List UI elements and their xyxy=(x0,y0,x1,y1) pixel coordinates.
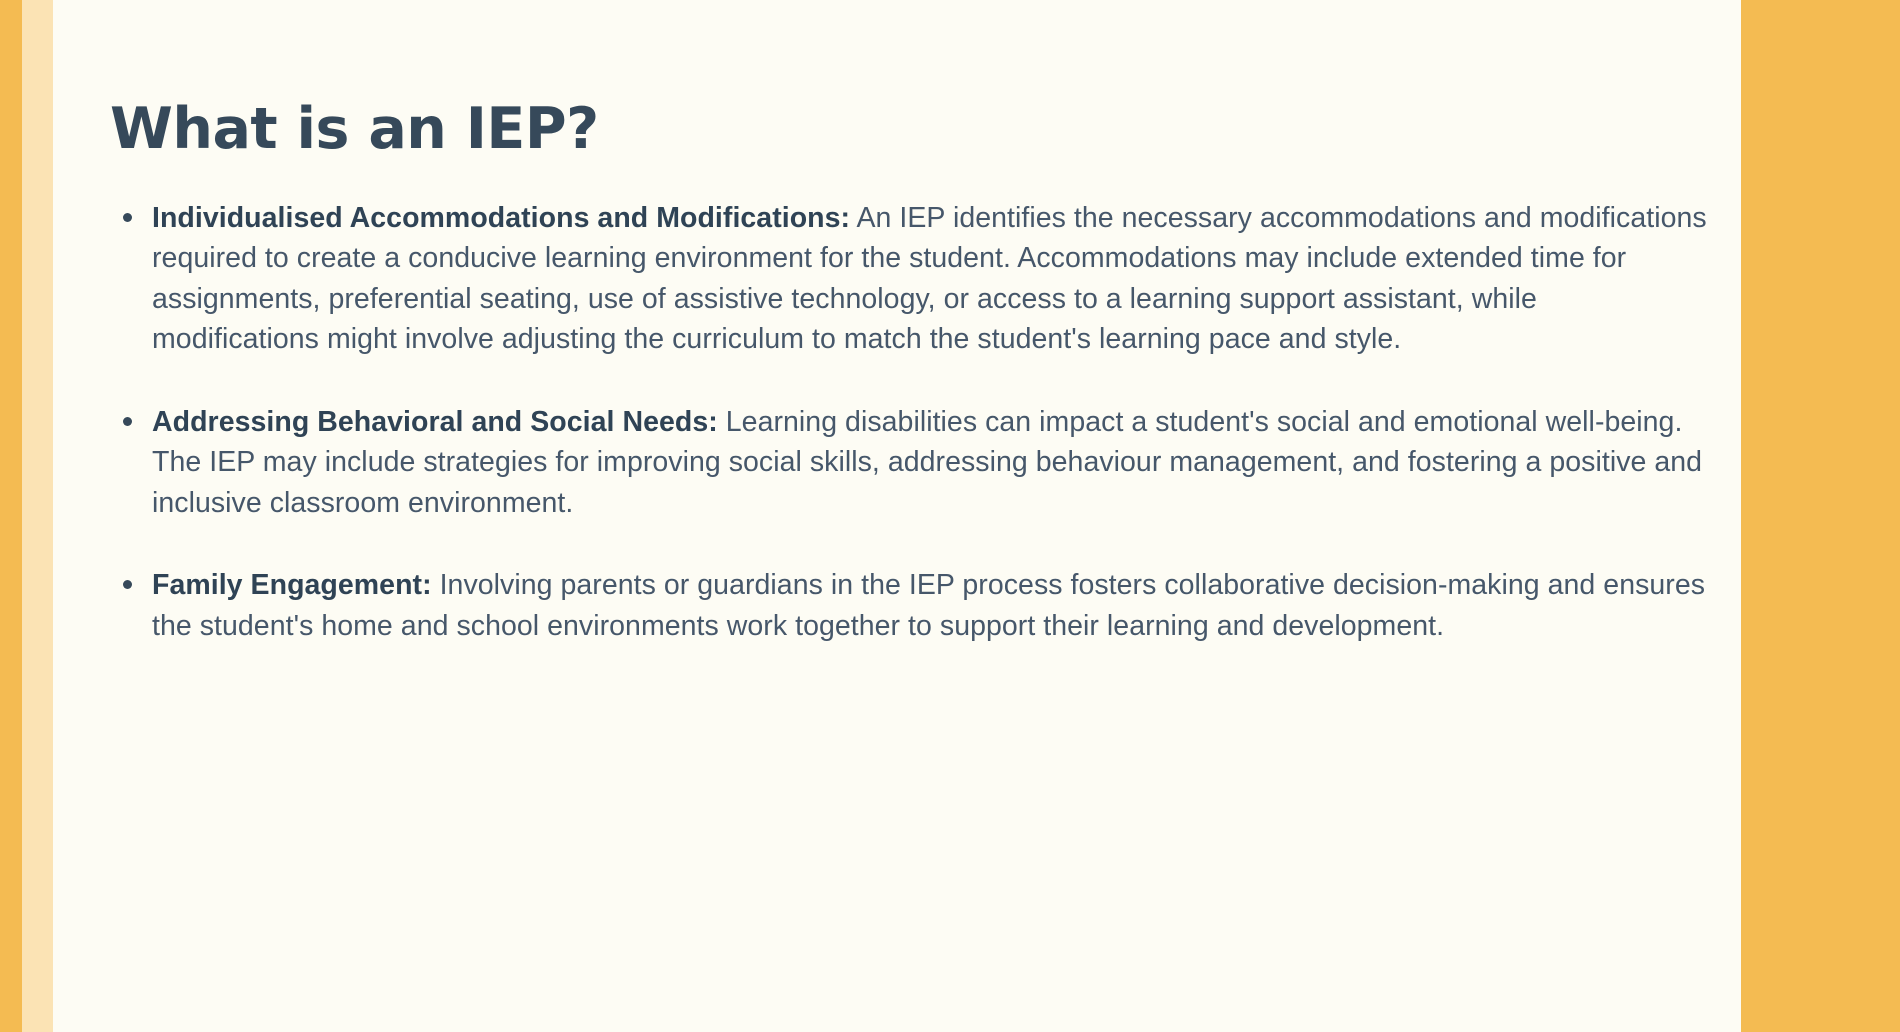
list-item: Individualised Accommodations and Modifi… xyxy=(110,198,1710,360)
list-item: Family Engagement: Involving parents or … xyxy=(110,565,1710,646)
slide-root: What is an IEP? Individualised Accommoda… xyxy=(0,0,1900,1032)
right-orange-accent-band xyxy=(1741,0,1900,1032)
left-cream-accent-band xyxy=(22,0,53,1032)
slide-canvas: What is an IEP? Individualised Accommoda… xyxy=(53,0,1741,1032)
list-item: Addressing Behavioral and Social Needs: … xyxy=(110,402,1710,523)
bullet-dot-icon xyxy=(123,580,132,589)
bullet-dot-icon xyxy=(123,213,132,222)
page-title: What is an IEP? xyxy=(110,100,1710,160)
bullet-dot-icon xyxy=(123,417,132,426)
bullet-list: Individualised Accommodations and Modifi… xyxy=(110,198,1710,646)
bullet-lead-label: Individualised Accommodations and Modifi… xyxy=(152,202,850,234)
bullet-lead-label: Addressing Behavioral and Social Needs: xyxy=(152,406,718,438)
left-orange-accent-band xyxy=(0,0,22,1032)
slide-content: What is an IEP? Individualised Accommoda… xyxy=(110,100,1710,646)
bullet-lead-label: Family Engagement: xyxy=(152,569,432,601)
